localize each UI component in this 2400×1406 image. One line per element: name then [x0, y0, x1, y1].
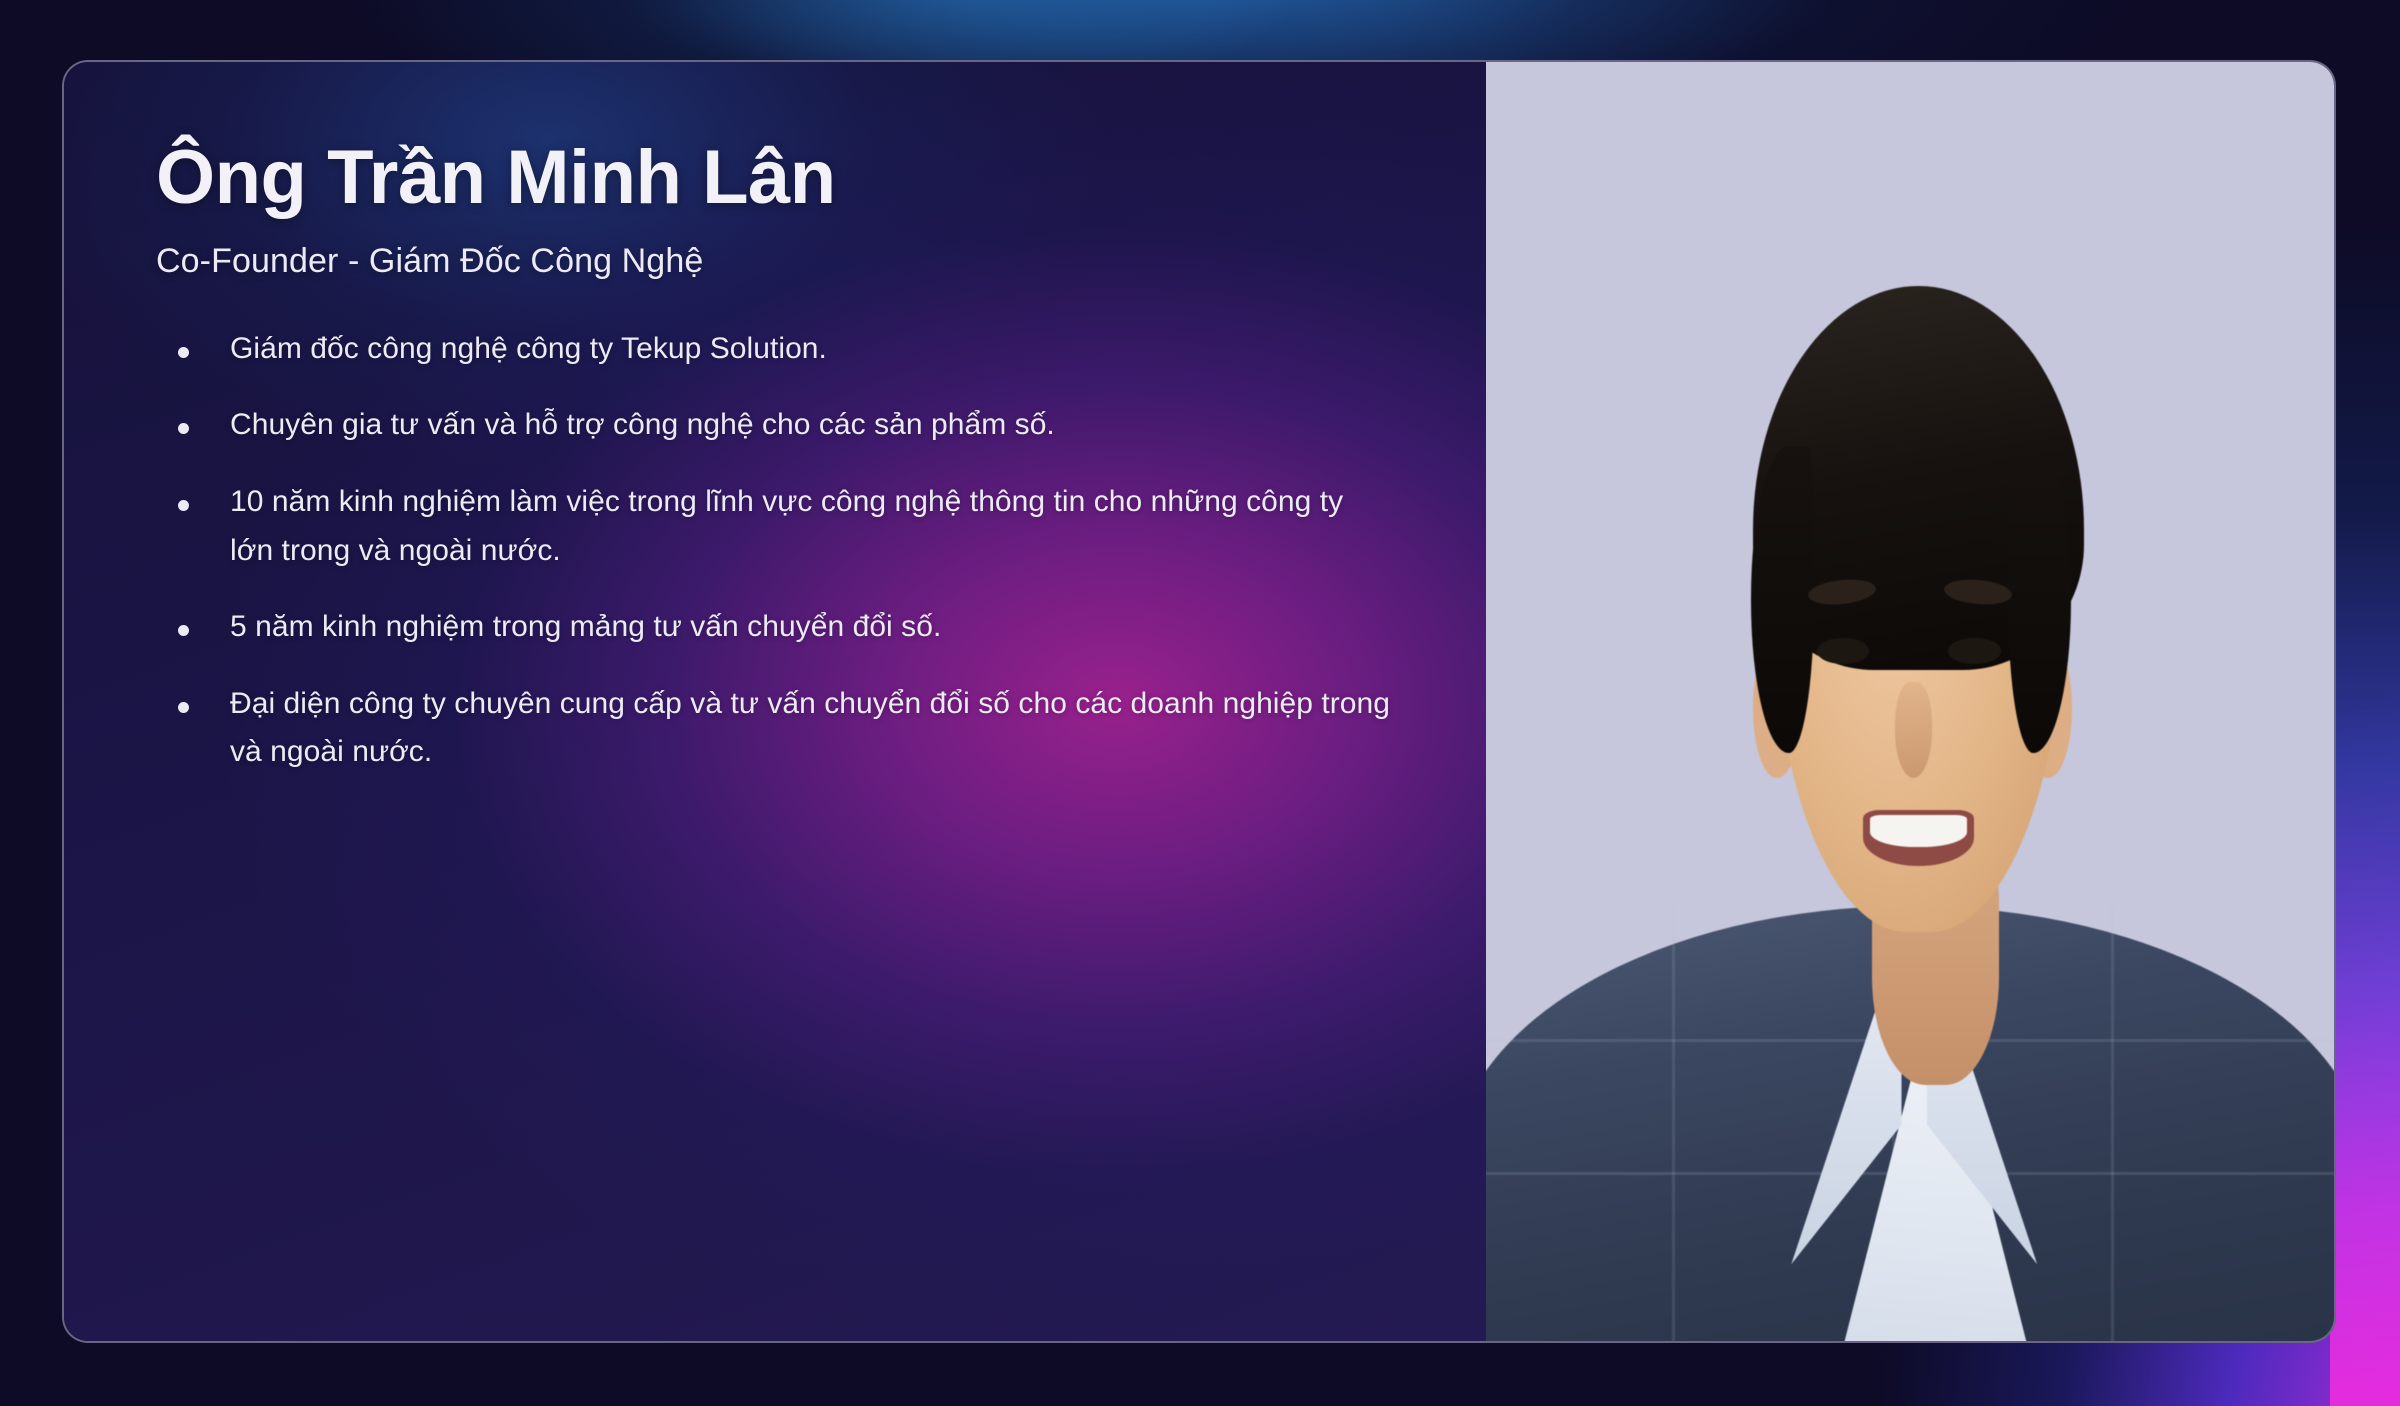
list-item-text: Giám đốc công nghệ công ty Tekup Solutio…: [230, 332, 827, 365]
profile-card: Ông Trần Minh Lân Co-Founder - Giám Đốc …: [62, 60, 2336, 1343]
list-item: Đại diện công ty chuyên cung cấp và tư v…: [156, 680, 1394, 777]
list-item: 5 năm kinh nghiệm trong mảng tư vấn chuy…: [156, 603, 1394, 652]
portrait-illustration: [1486, 62, 2334, 1341]
list-item: 10 năm kinh nghiệm làm việc trong lĩnh v…: [156, 478, 1394, 575]
slide-root: Ông Trần Minh Lân Co-Founder - Giám Đốc …: [0, 0, 2400, 1406]
list-item-text: Đại diện công ty chuyên cung cấp và tư v…: [230, 687, 1390, 769]
profile-info-pane: Ông Trần Minh Lân Co-Founder - Giám Đốc …: [64, 62, 1486, 1341]
list-item: Chuyên gia tư vấn và hỗ trợ công nghệ ch…: [156, 401, 1394, 450]
bio-bullet-list: Giám đốc công nghệ công ty Tekup Solutio…: [156, 325, 1394, 777]
page-title: Ông Trần Minh Lân: [156, 138, 1394, 218]
list-item-text: Chuyên gia tư vấn và hỗ trợ công nghệ ch…: [230, 408, 1055, 441]
bullet-dot-icon: [178, 423, 189, 434]
mouth: [1863, 810, 1973, 866]
nose: [1895, 682, 1932, 778]
background-glow-right-edge: [2330, 0, 2400, 1406]
teeth: [1870, 815, 1967, 848]
bullet-dot-icon: [178, 702, 189, 713]
list-item-text: 5 năm kinh nghiệm trong mảng tư vấn chuy…: [230, 610, 941, 643]
bullet-dot-icon: [178, 347, 189, 358]
list-item: Giám đốc công nghệ công ty Tekup Solutio…: [156, 325, 1394, 374]
eye-right: [1948, 638, 2001, 665]
portrait-photo: [1486, 62, 2334, 1341]
list-item-text: 10 năm kinh nghiệm làm việc trong lĩnh v…: [230, 485, 1343, 567]
bullet-dot-icon: [178, 500, 189, 511]
jacket-check-line: [2111, 906, 2114, 1341]
role-subtitle: Co-Founder - Giám Đốc Công Nghệ: [156, 242, 1394, 281]
bullet-dot-icon: [178, 625, 189, 636]
jacket-check-line: [1672, 906, 1675, 1341]
